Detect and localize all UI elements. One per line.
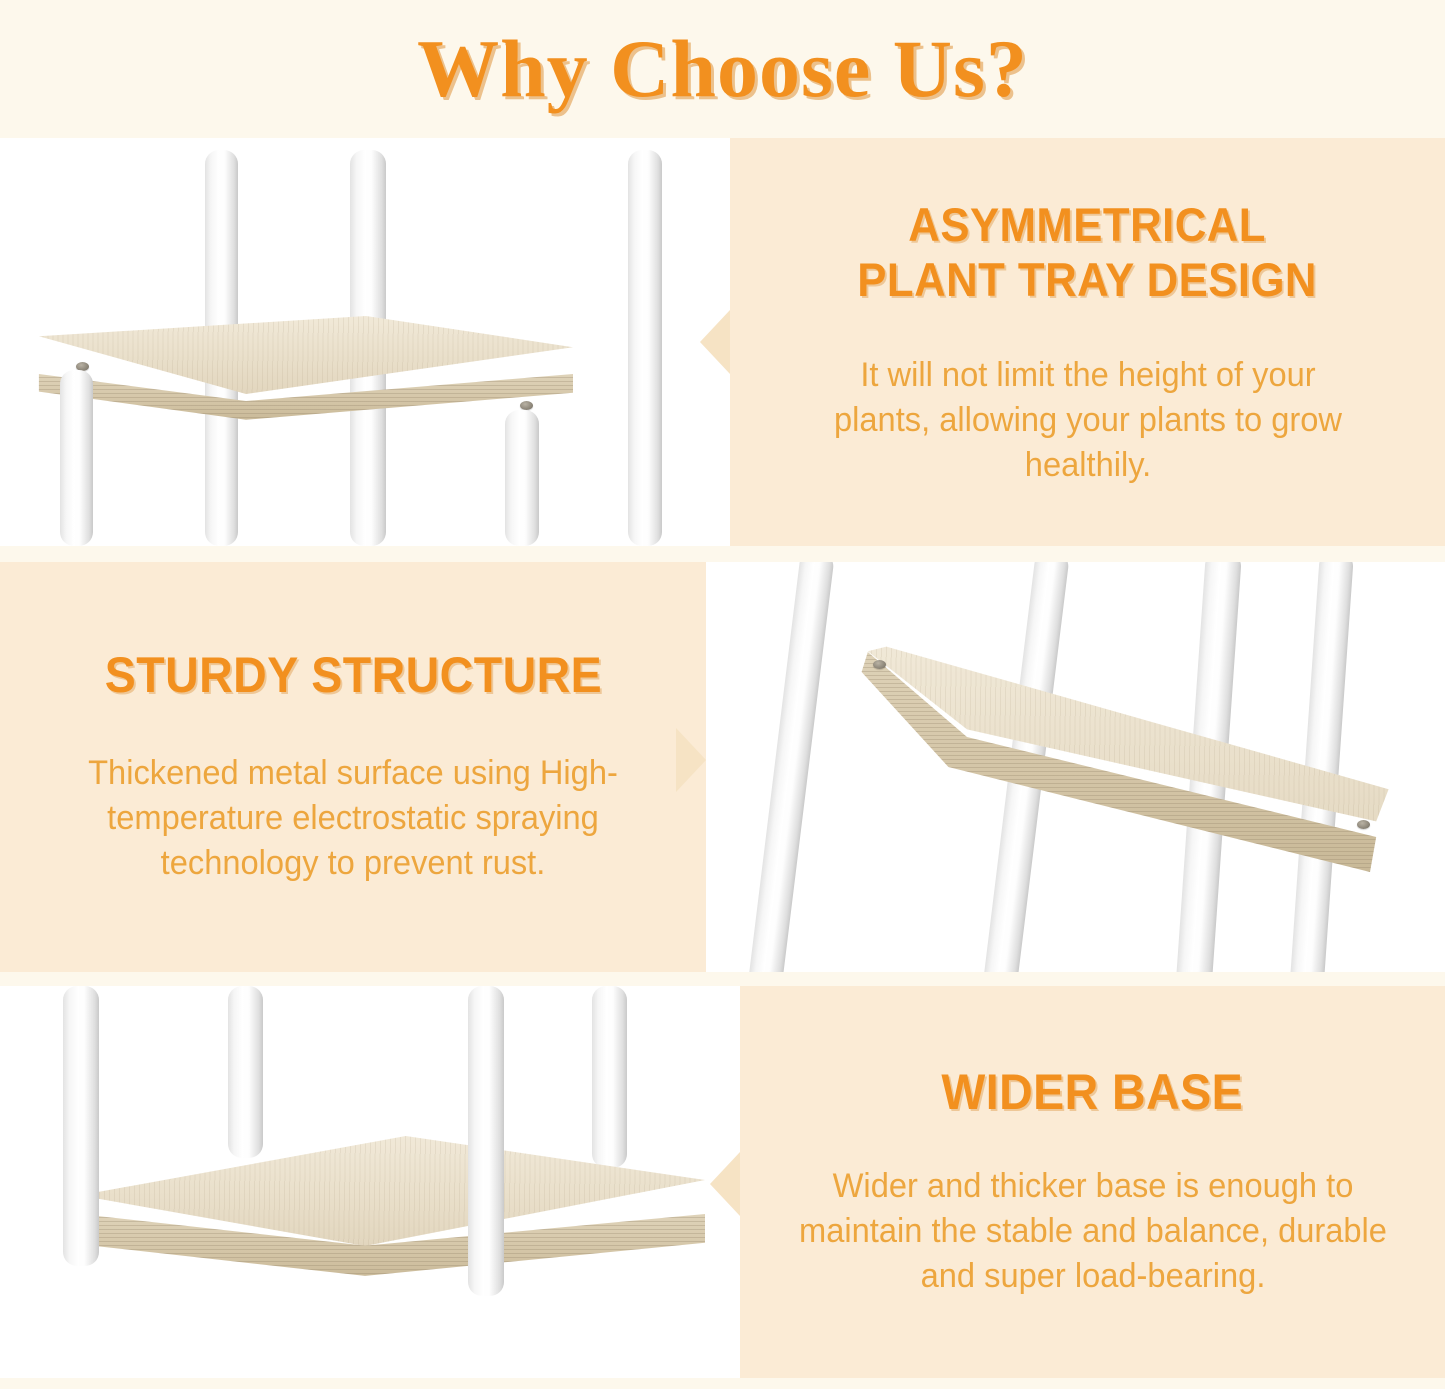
pointer-arrow-left-icon bbox=[700, 310, 730, 374]
plant-tray-shelf bbox=[28, 316, 588, 466]
feature-heading: WIDER BASE bbox=[942, 1065, 1244, 1120]
feature-heading-line2: PLANT TRAY DESIGN bbox=[858, 253, 1318, 306]
angled-plant-tray-shelf bbox=[781, 642, 1401, 912]
product-photo-wider-base bbox=[0, 986, 740, 1378]
metal-tube-icon bbox=[628, 150, 662, 546]
screw-icon bbox=[1357, 820, 1370, 829]
pointer-arrow-left-icon bbox=[710, 1152, 740, 1216]
feature-panel-wider-base: WIDER BASE Wider and thicker base is eno… bbox=[740, 986, 1445, 1378]
header-band: Why Choose Us? bbox=[0, 0, 1445, 138]
metal-tube-icon bbox=[505, 410, 539, 546]
pointer-arrow-right-icon bbox=[676, 728, 706, 792]
product-photo-sturdy-structure bbox=[706, 562, 1445, 972]
metal-tube-icon bbox=[63, 986, 99, 1266]
feature-heading: STURDY STRUCTURE bbox=[104, 648, 601, 703]
row-divider bbox=[0, 972, 1445, 986]
screw-icon bbox=[873, 660, 886, 669]
wider-base-board bbox=[25, 1136, 705, 1316]
feature-body: Wider and thicker base is enough to main… bbox=[785, 1164, 1399, 1299]
feature-heading-line1: ASYMMETRICAL bbox=[909, 198, 1267, 251]
feature-panel-sturdy-structure: STURDY STRUCTURE Thickened metal surface… bbox=[0, 562, 706, 972]
metal-tube-icon bbox=[60, 370, 93, 546]
feature-body: Thickened metal surface using High-tempe… bbox=[46, 751, 660, 886]
page-title: Why Choose Us? bbox=[417, 28, 1028, 110]
feature-panel-asymmetrical-plant-tray-design: ASYMMETRICAL PLANT TRAY DESIGN It will n… bbox=[730, 138, 1445, 546]
feature-heading: ASYMMETRICAL PLANT TRAY DESIGN bbox=[858, 197, 1318, 307]
product-photo-plant-tray bbox=[0, 138, 730, 546]
metal-tube-icon bbox=[228, 986, 263, 1158]
metal-tube-icon bbox=[468, 986, 504, 1296]
screw-icon bbox=[520, 401, 533, 410]
bottom-strip bbox=[0, 1378, 1445, 1389]
feature-body: It will not limit the height of your pla… bbox=[819, 353, 1357, 488]
feature-row-sturdy-structure: STURDY STRUCTURE Thickened metal surface… bbox=[0, 562, 1445, 972]
row-divider bbox=[0, 546, 1445, 562]
